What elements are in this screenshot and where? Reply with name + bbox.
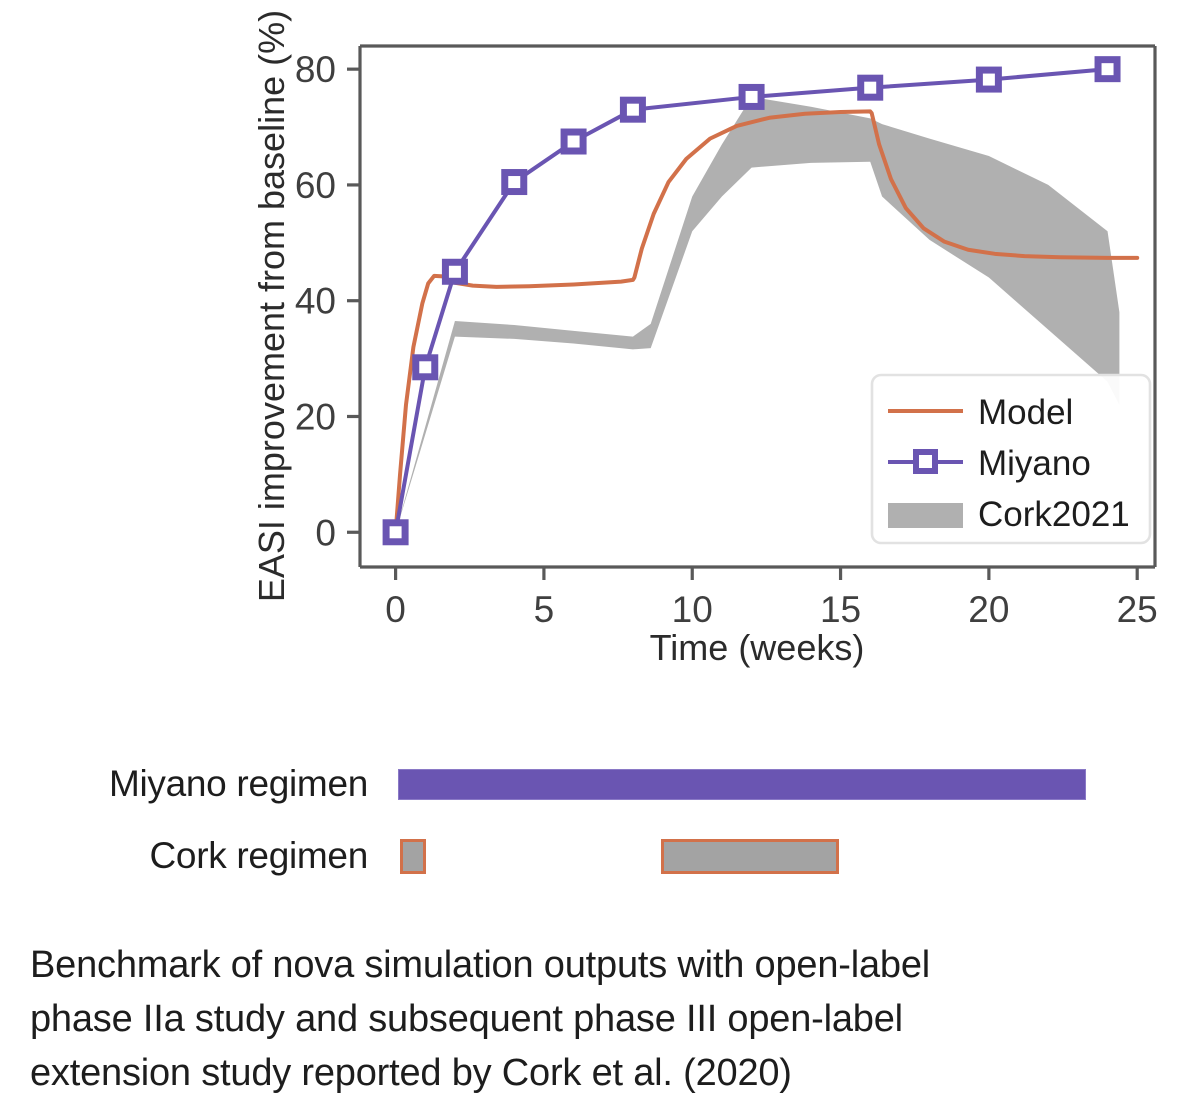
y-axis-title: EASI improvement from baseline (%) bbox=[251, 10, 292, 602]
x-axis-title: Time (weeks) bbox=[650, 627, 865, 668]
regimen-bar-cork-1 bbox=[400, 839, 425, 874]
caption-line-3: extension study reported by Cork et al. … bbox=[30, 1046, 1172, 1100]
series-marker-miyano bbox=[445, 262, 464, 281]
regimen-bar-cork-2 bbox=[661, 839, 839, 874]
caption-line-1: Benchmark of nova simulation outputs wit… bbox=[30, 938, 1172, 992]
x-tick-label: 15 bbox=[820, 589, 861, 630]
regimen-label-miyano: Miyano regimen bbox=[0, 756, 368, 812]
regimen-track-miyano bbox=[380, 756, 1180, 812]
regimen-timeline: Miyano regimen Cork regimen bbox=[0, 748, 1196, 898]
x-tick-label: 0 bbox=[385, 589, 406, 630]
series-marker-miyano bbox=[386, 523, 405, 542]
benchmark-chart-figure: 0510152025 020406080 Time (weeks) EASI i… bbox=[0, 0, 1196, 690]
y-tick-label: 20 bbox=[295, 396, 336, 437]
series-marker-miyano bbox=[1098, 60, 1117, 79]
caption-line-2: phase IIa study and subsequent phase III… bbox=[30, 992, 1172, 1046]
y-tick-label: 80 bbox=[295, 49, 336, 90]
series-marker-miyano bbox=[505, 173, 524, 192]
chart-legend: Model Miyano Cork2021 bbox=[872, 375, 1150, 543]
y-axis-ticks: 020406080 bbox=[295, 49, 360, 553]
legend-swatch-cork-band bbox=[888, 503, 963, 528]
series-marker-miyano bbox=[742, 87, 761, 106]
y-tick-label: 60 bbox=[295, 165, 336, 206]
series-marker-miyano bbox=[979, 70, 998, 89]
regimen-track-cork bbox=[380, 828, 1180, 884]
chart-canvas: 0510152025 020406080 Time (weeks) EASI i… bbox=[0, 0, 1196, 690]
x-tick-label: 5 bbox=[534, 589, 555, 630]
regimen-row-miyano: Miyano regimen bbox=[0, 756, 1196, 812]
legend-swatch-miyano-marker bbox=[916, 452, 935, 471]
legend-label-model: Model bbox=[978, 393, 1073, 432]
x-axis-ticks: 0510152025 bbox=[385, 567, 1157, 630]
legend-label-cork2021: Cork2021 bbox=[978, 495, 1130, 534]
series-marker-miyano bbox=[416, 358, 435, 377]
regimen-row-cork: Cork regimen bbox=[0, 828, 1196, 884]
series-marker-miyano bbox=[861, 78, 880, 97]
y-tick-label: 40 bbox=[295, 281, 336, 322]
regimen-label-cork: Cork regimen bbox=[0, 828, 368, 884]
x-tick-label: 25 bbox=[1117, 589, 1158, 630]
series-marker-miyano bbox=[564, 132, 583, 151]
x-tick-label: 20 bbox=[968, 589, 1009, 630]
figure-caption: Benchmark of nova simulation outputs wit… bbox=[30, 938, 1172, 1100]
x-tick-label: 10 bbox=[672, 589, 713, 630]
y-tick-label: 0 bbox=[315, 512, 336, 553]
series-marker-miyano bbox=[623, 100, 642, 119]
regimen-bar-miyano bbox=[398, 769, 1086, 800]
legend-label-miyano: Miyano bbox=[978, 444, 1091, 483]
